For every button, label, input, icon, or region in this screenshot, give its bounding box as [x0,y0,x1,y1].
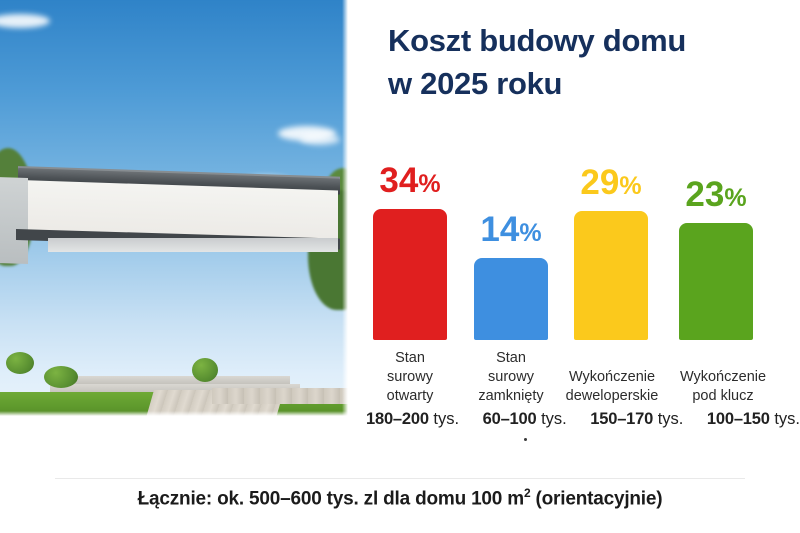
bush-shape [44,366,78,388]
house-facade [0,238,348,380]
bush-shape [192,358,218,382]
footer-note-suffix: (orientacyjnie) [530,488,662,509]
cost-range-stan-surowy-zamkniety: 60–100 tys. [483,410,567,429]
title-line-1: Koszt budowy domu [388,20,788,63]
category-label-stan-surowy-otwarty: Stan surowy otwarty [372,349,448,406]
bar-value-label: 29% [580,165,641,200]
page-title: Koszt budowy domu w 2025 roku [388,20,788,106]
category-label-wykonczenie-pod-klucz: Wykończenie pod klucz [668,368,778,406]
house-photo [0,0,348,416]
stray-dot-artifact [524,438,527,441]
cost-range-wykonczenie-pod-klucz: 100–150 tys. [707,410,800,429]
footer-divider [55,478,745,479]
paved-path [212,388,348,404]
footer-note: Łącznie: ok. 500–600 tys. zl dla domu 10… [0,486,800,510]
category-labels: Stan surowy otwarty Stan surowy zamknięt… [368,338,800,406]
bar-chart: 34% 14% 29% 23% [368,140,800,340]
cloud-shape [300,134,340,145]
infographic-root: Koszt budowy domu w 2025 roku 34% 14% 29… [0,0,800,533]
bar-value-label: 23% [685,177,746,212]
bar-rect-yellow[interactable] [574,211,648,340]
content-panel: Koszt budowy domu w 2025 roku 34% 14% 29… [348,0,800,460]
bar-rect-red[interactable] [373,209,447,340]
cost-range-wykonczenie-deweloperskie: 150–170 tys. [590,410,683,429]
bush-shape [6,352,34,374]
category-label-wykonczenie-deweloperskie: Wykończenie deweloperskie [554,368,670,406]
bar-rect-green[interactable] [679,223,753,340]
bar-value-label: 34% [379,163,440,198]
entrance-step [58,376,290,384]
footer-note-prefix: Łącznie: ok. 500–600 tys. zl dla domu 10… [138,488,524,509]
cost-range-stan-surowy-otwarty: 180–200 tys. [366,410,459,429]
cost-range-row: 180–200 tys. 60–100 tys. 150–170 tys. 10… [366,410,800,429]
bar-rect-blue[interactable] [474,258,548,340]
category-label-stan-surowy-zamkniety: Stan surowy zamknięty [468,349,554,406]
title-line-2: w 2025 roku [388,63,788,106]
bar-value-label: 14% [480,212,541,247]
photo-edge-fade [0,411,348,416]
